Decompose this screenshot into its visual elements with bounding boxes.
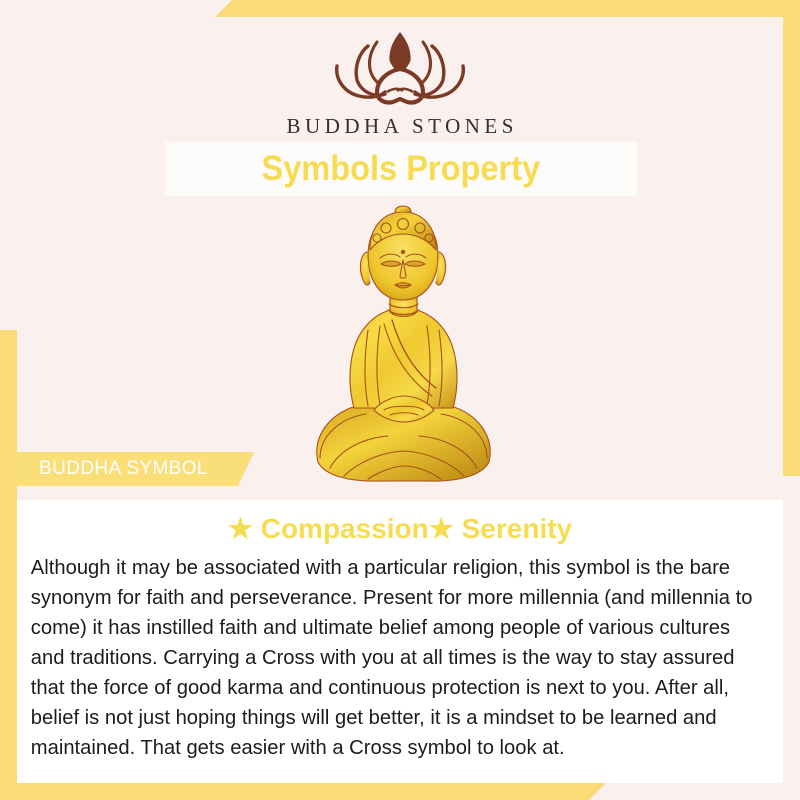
- content-subtitle: ★ Compassion★ Serenity: [17, 500, 783, 545]
- content-panel: ★ Compassion★ Serenity Although it may b…: [17, 500, 783, 783]
- brand-header: BUDDHA STONES: [0, 22, 800, 139]
- decorative-band-left: [0, 330, 17, 800]
- page-title: Symbols Property: [262, 149, 541, 189]
- decorative-band-bottom: [0, 783, 606, 800]
- section-ribbon-label: BUDDHA SYMBOL: [17, 458, 208, 480]
- content-paragraph: Although it may be associated with a par…: [17, 545, 772, 763]
- section-ribbon: BUDDHA SYMBOL: [17, 452, 254, 486]
- title-strip: Symbols Property: [165, 142, 637, 196]
- golden-buddha-statue: [296, 200, 511, 490]
- lotus-meditation-icon: [305, 22, 495, 110]
- brand-wordmark: BUDDHA STONES: [0, 114, 800, 139]
- decorative-band-top: [215, 0, 800, 17]
- buddha-illustration: [296, 200, 511, 490]
- poster-canvas: BUDDHA STONES Symbols Property: [0, 0, 800, 800]
